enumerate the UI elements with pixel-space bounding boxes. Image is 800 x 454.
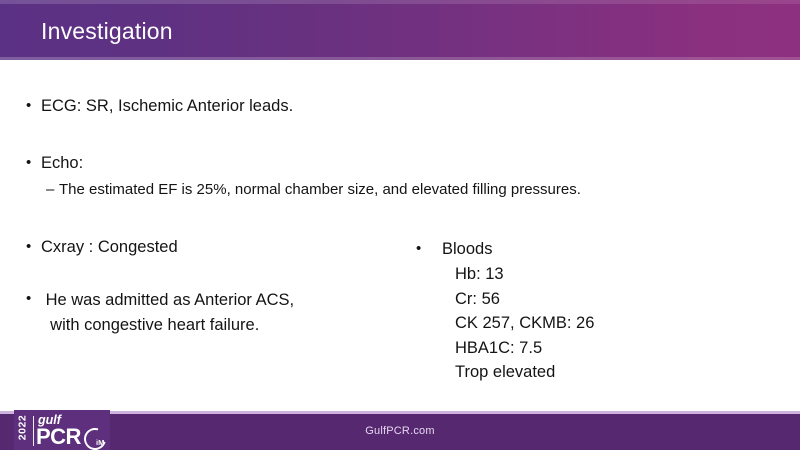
logo-im-text: iM	[96, 439, 104, 447]
logo-circle-icon	[80, 424, 110, 454]
bullet-dot-icon: •	[26, 152, 41, 174]
bullet-dot-icon: •	[416, 238, 442, 260]
logo-pcr-text: PCR	[36, 425, 81, 448]
list-item: CK 257, CKMB: 26	[455, 311, 594, 336]
bullet-ecg-text: ECG: SR, Ischemic Anterior leads.	[41, 95, 293, 117]
list-item: Cr: 56	[455, 287, 594, 312]
bullet-echo-text: Echo:	[41, 152, 83, 174]
dash-icon: –	[46, 179, 59, 200]
bullet-echo: • Echo:	[26, 152, 83, 174]
bullet-admission-text: He was admitted as Anterior ACS, with co…	[41, 288, 294, 338]
bullet-dot-icon: •	[26, 236, 41, 258]
bloods-values-list: Hb: 13 Cr: 56 CK 257, CKMB: 26 HBA1C: 7.…	[455, 262, 594, 385]
footer-website-text: GulfPCR.com	[0, 424, 800, 438]
logo-year-text: 2022	[18, 411, 29, 445]
sub-bullet-echo-detail: – The estimated EF is 25%, normal chambe…	[46, 179, 581, 200]
list-item: Trop elevated	[455, 360, 594, 385]
page-title: Investigation	[41, 18, 173, 44]
header-bottom-highlight	[0, 57, 800, 60]
bullet-cxray-text: Cxray : Congested	[41, 236, 178, 258]
bullet-ecg: • ECG: SR, Ischemic Anterior leads.	[26, 95, 293, 117]
slide: Investigation • ECG: SR, Ischemic Anteri…	[0, 0, 800, 450]
sub-bullet-echo-detail-text: The estimated EF is 25%, normal chamber …	[59, 179, 581, 200]
logo-divider	[33, 416, 34, 446]
list-item: Hb: 13	[455, 262, 594, 287]
bullet-bloods-heading: Bloods	[442, 238, 492, 260]
bullet-dot-icon: •	[26, 288, 41, 310]
bullet-dot-icon: •	[26, 95, 41, 117]
bullet-cxray: • Cxray : Congested	[26, 236, 178, 258]
header-top-highlight	[0, 0, 800, 4]
bullet-bloods: • Bloods	[416, 238, 492, 260]
list-item: HBA1C: 7.5	[455, 336, 594, 361]
gulfpcr-logo: 2022 gulf PCR iM	[14, 410, 110, 450]
bullet-admission: • He was admitted as Anterior ACS, with …	[26, 288, 294, 338]
